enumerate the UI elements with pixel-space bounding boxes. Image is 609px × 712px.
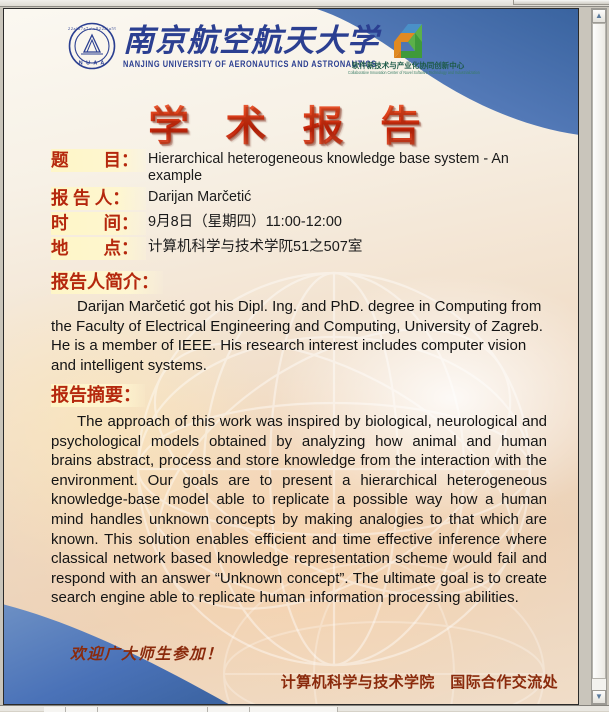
innovation-center-mark-icon	[388, 22, 428, 60]
section-text-bio: Darijan Marčetić got his Dipl. Ing. and …	[51, 297, 547, 375]
scrollbar-thumb[interactable]	[592, 23, 606, 679]
background-window-cell	[98, 707, 208, 712]
slide-viewport: N U A A \u5357\u4eac\u822a\u7a7a\u822a\u…	[3, 8, 579, 705]
info-label-speaker: 报 告 人：	[51, 187, 146, 210]
vertical-scrollbar[interactable]: ▲ ▼	[591, 8, 607, 705]
info-row-speaker: 报 告 人： Darijan Marčetić	[51, 187, 551, 210]
chevron-up-icon: ▲	[595, 12, 603, 20]
presentation-window: N U A A \u5357\u4eac\u822a\u7a7a\u822a\u…	[0, 0, 609, 711]
section-text-abstract: The approach of this work was inspired b…	[51, 412, 547, 608]
section-heading-abstract: 报告摘要：	[51, 384, 145, 407]
window-top-right-tab[interactable]	[513, 0, 609, 5]
nuaa-logo: N U A A \u5357\u4eac\u822a\u7a7a\u822a\u…	[68, 22, 379, 70]
footer-welcome-message: 欢迎广大师生参加！	[70, 642, 223, 664]
nuaa-seal-icon: N U A A \u5357\u4eac\u822a\u7a7a\u822a\u…	[68, 22, 116, 70]
nuaa-chinese-name: 南京航空航天大学	[123, 24, 379, 58]
info-row-time: 时 间： 9月8日（星期四）11:00-12:00	[51, 212, 551, 235]
info-row-location: 地 点： 计算机科学与技术学阢51之507室	[51, 237, 551, 260]
background-window-strip[interactable]	[0, 705, 609, 711]
info-value-speaker: Darijan Marčetić	[146, 187, 551, 206]
background-window-cell	[208, 707, 250, 712]
innovation-center-chinese-name: 软件新技术与产业化协同创新中心	[348, 61, 468, 71]
info-value-location: 计算机科学与技术学阢51之507室	[146, 237, 551, 257]
scroll-up-button[interactable]: ▲	[592, 9, 606, 23]
info-label-time: 时 间：	[51, 212, 146, 235]
scroll-down-button[interactable]: ▼	[592, 690, 606, 704]
footer-organizers: 计算机科学与技术学院 国际合作交流处	[281, 671, 558, 692]
svg-text:\u5357\u4eac\u822a\u7a7a\u822a: \u5357\u4eac\u822a\u7a7a\u822a\u5929\u59…	[68, 26, 116, 31]
innovation-center-english-name: Collaborative Innovation Center of Novel…	[348, 71, 468, 77]
innovation-center-logo: 软件新技术与产业化协同创新中心 Collaborative Innovation…	[348, 22, 468, 76]
info-value-topic: Hierarchical heterogeneous knowledge bas…	[146, 149, 551, 185]
svg-text:N U A A: N U A A	[79, 61, 105, 67]
background-window-cell	[66, 707, 98, 712]
nuaa-wordmark: 南京航空航天大学 NANJING UNIVERSITY OF AERONAUTI…	[123, 24, 379, 68]
page-title: 学 术 报 告	[4, 92, 578, 152]
background-window-cell	[250, 707, 338, 712]
info-value-time: 9月8日（星期四）11:00-12:00	[146, 212, 551, 232]
chevron-down-icon: ▼	[595, 693, 603, 701]
info-label-topic: 题 目：	[51, 149, 146, 172]
section-heading-bio: 报告人简介：	[51, 271, 163, 294]
nuaa-english-name: NANJING UNIVERSITY OF AERONAUTICS AND AS…	[123, 58, 379, 71]
background-window-cell	[44, 707, 66, 712]
event-info-block: 题 目： Hierarchical heterogeneous knowledg…	[51, 149, 551, 262]
info-row-topic: 题 目： Hierarchical heterogeneous knowledg…	[51, 149, 551, 185]
slide-canvas: N U A A \u5357\u4eac\u822a\u7a7a\u822a\u…	[4, 9, 578, 704]
info-label-location: 地 点：	[51, 237, 146, 260]
header-logo-row: N U A A \u5357\u4eac\u822a\u7a7a\u822a\u…	[4, 22, 578, 84]
